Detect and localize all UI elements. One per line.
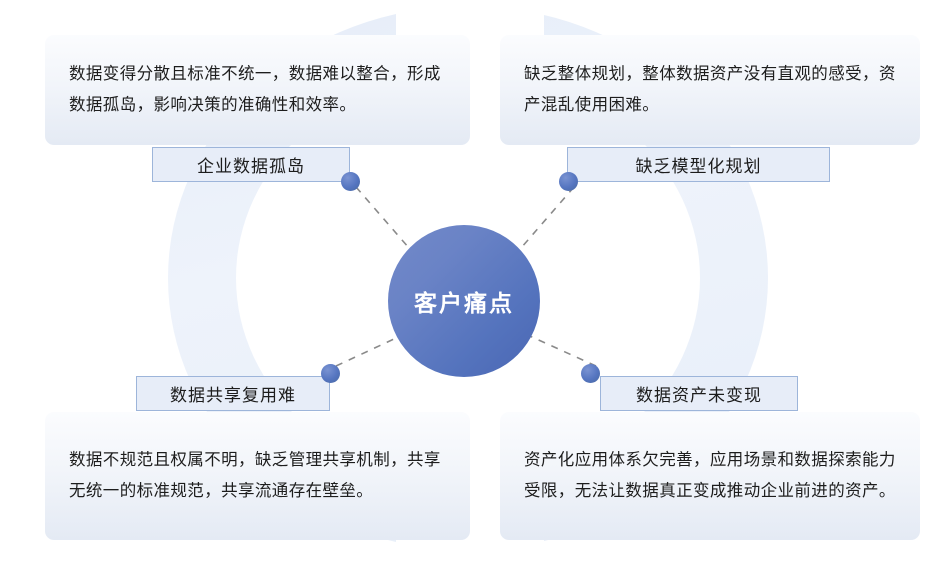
diagram-canvas: 客户痛点 数据变得分散且标准不统一，数据难以整合，形成数据孤岛，影响决策的准确性… bbox=[0, 0, 937, 576]
label-pill-text-top-left: 企业数据孤岛 bbox=[197, 152, 305, 177]
description-text-bottom-left: 数据不规范且权属不明，缺乏管理共享机制，共享无统一的标准规范，共享流通存在壁垒。 bbox=[45, 445, 470, 507]
description-text-bottom-right: 资产化应用体系欠完善，应用场景和数据探索能力受限，无法让数据真正变成推动企业前进… bbox=[500, 445, 920, 507]
label-pill-top-left[interactable]: 企业数据孤岛 bbox=[152, 147, 350, 182]
description-text-top-left: 数据变得分散且标准不统一，数据难以整合，形成数据孤岛，影响决策的准确性和效率。 bbox=[45, 59, 470, 121]
label-pill-text-bottom-left: 数据共享复用难 bbox=[170, 381, 296, 406]
description-text-top-right: 缺乏整体规划，整体数据资产没有直观的感受，资产混乱使用困难。 bbox=[500, 59, 920, 121]
description-card-bottom-left: 数据不规范且权属不明，缺乏管理共享机制，共享无统一的标准规范，共享流通存在壁垒。 bbox=[45, 412, 470, 540]
connector-line-top-left bbox=[356, 187, 409, 248]
connector-line-top-right bbox=[521, 187, 574, 248]
label-pill-bottom-right[interactable]: 数据资产未变现 bbox=[600, 376, 798, 411]
description-card-bottom-right: 资产化应用体系欠完善，应用场景和数据探索能力受限，无法让数据真正变成推动企业前进… bbox=[500, 412, 920, 540]
label-pill-top-right[interactable]: 缺乏模型化规划 bbox=[567, 147, 830, 182]
connector-dot-bottom-right bbox=[581, 364, 600, 383]
label-pill-bottom-left[interactable]: 数据共享复用难 bbox=[136, 376, 330, 411]
connector-dot-top-left bbox=[341, 172, 360, 191]
description-card-top-left: 数据变得分散且标准不统一，数据难以整合，形成数据孤岛，影响决策的准确性和效率。 bbox=[45, 35, 470, 145]
label-pill-text-top-right: 缺乏模型化规划 bbox=[636, 152, 762, 177]
connector-dot-top-right bbox=[559, 172, 578, 191]
center-node[interactable]: 客户痛点 bbox=[388, 225, 540, 377]
connector-dot-bottom-left bbox=[321, 364, 340, 383]
connector-line-bottom-right bbox=[521, 332, 596, 366]
description-card-top-right: 缺乏整体规划，整体数据资产没有直观的感受，资产混乱使用困难。 bbox=[500, 35, 920, 145]
center-node-label: 客户痛点 bbox=[414, 284, 514, 318]
label-pill-text-bottom-right: 数据资产未变现 bbox=[636, 381, 762, 406]
